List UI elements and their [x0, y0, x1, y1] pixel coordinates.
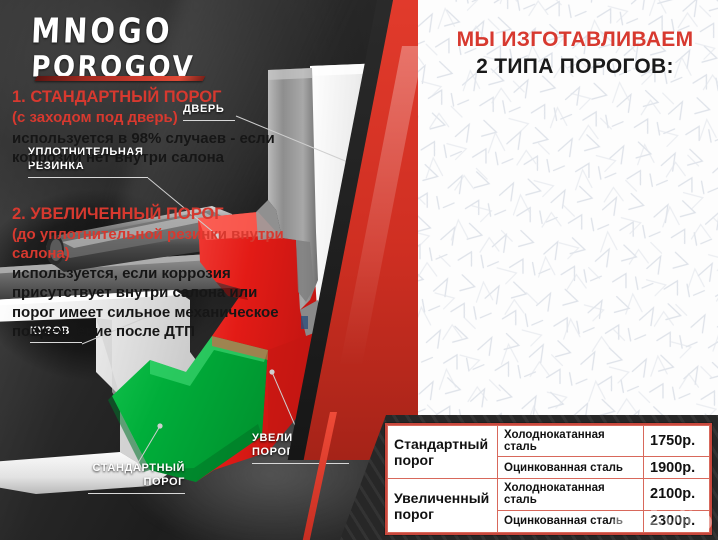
price-value: 2100р. [644, 479, 710, 510]
callout-standard-sill: СТАНДАРТНЫЙ ПОРОГ [88, 462, 185, 494]
price-material: Холоднокатанная сталь [498, 426, 644, 457]
table-row: Стандартный порог Холоднокатанная сталь … [388, 426, 710, 457]
callout-big-rule [252, 463, 349, 464]
price-category-enlarged: Увеличенный порог [388, 479, 498, 533]
logo-underline-swoosh [35, 76, 206, 81]
block-2-title: 2. УВЕЛИЧЕННЫЙ ПОРОГ [12, 205, 290, 225]
block-1-body: используется в 98% случаев - если корроз… [12, 129, 290, 167]
callout-body-rule [30, 342, 82, 343]
block-2-body: используется, если коррозия присутствует… [12, 264, 290, 341]
price-material: Оцинкованная сталь [498, 510, 644, 533]
price-value: 2300р. [644, 510, 710, 533]
price-table: Стандартный порог Холоднокатанная сталь … [385, 423, 712, 535]
table-row: Увеличенный порог Холоднокатанная сталь … [388, 479, 710, 510]
price-value: 1750р. [644, 426, 710, 457]
info-block-standard: 1. СТАНДАРТНЫЙ ПОРОГ (с заходом под двер… [12, 88, 290, 167]
price-value: 1900р. [644, 457, 710, 479]
headline: МЫ ИЗГОТАВЛИВАЕМ 2 ТИПА ПОРОГОВ: [444, 28, 706, 79]
block-1-subtitle: (с заходом под дверь) [12, 109, 290, 128]
callout-seal-rule [28, 177, 148, 178]
block-2-subtitle: (до уплотнительной резинки внутри салона… [12, 226, 290, 264]
headline-line-2: 2 ТИПА ПОРОГОВ: [444, 55, 706, 79]
callout-std-line-2: ПОРОГ [88, 476, 185, 490]
price-material: Оцинкованная сталь [498, 457, 644, 479]
callout-std-line-1: СТАНДАРТНЫЙ [88, 462, 185, 476]
brand-logo: MNOGO POROGOV [32, 14, 232, 79]
price-category-standard: Стандартный порог [388, 426, 498, 479]
advertisement-image: MNOGO POROGOV ДВЕРЬ УПЛОТНИТЕЛЬНАЯ РЕЗИН… [0, 0, 718, 540]
block-1-title: 1. СТАНДАРТНЫЙ ПОРОГ [12, 88, 290, 108]
headline-line-1: МЫ ИЗГОТАВЛИВАЕМ [444, 28, 706, 52]
price-material: Холоднокатанная сталь [498, 479, 644, 510]
callout-std-rule [88, 493, 185, 494]
info-block-enlarged: 2. УВЕЛИЧЕННЫЙ ПОРОГ (до уплотнительной … [12, 205, 290, 341]
logo-line-1: MNOGO [30, 14, 232, 48]
